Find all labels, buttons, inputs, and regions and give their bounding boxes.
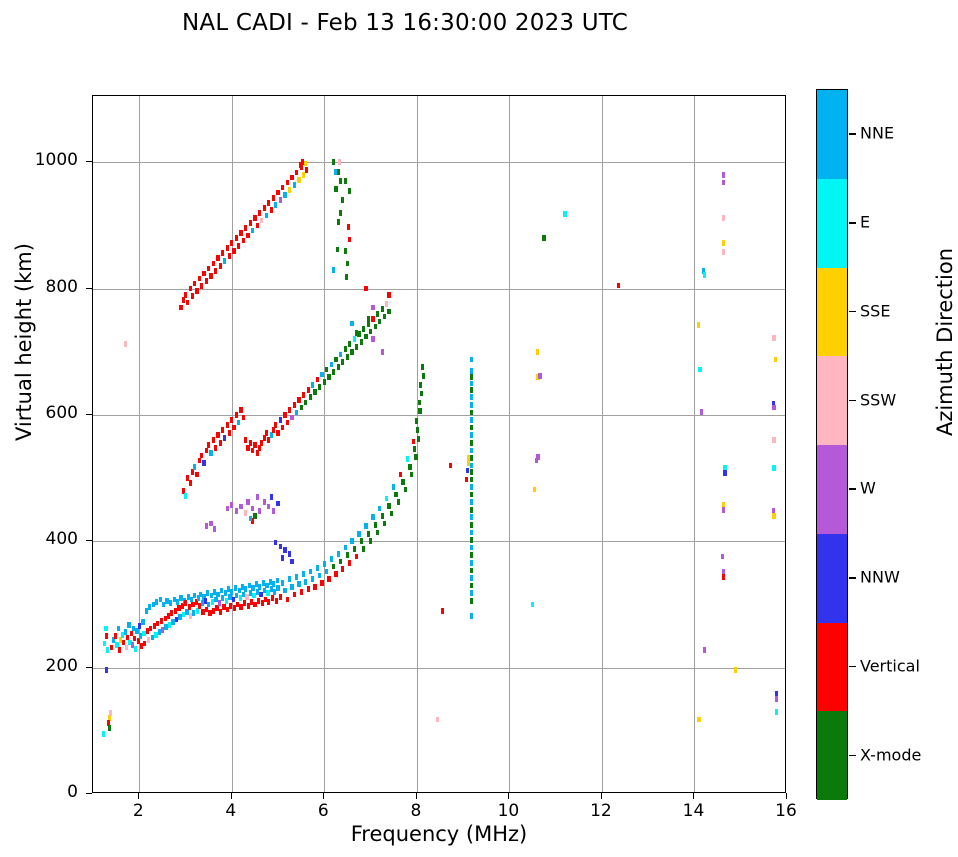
- echo-point: [263, 435, 266, 441]
- echo-point: [198, 458, 201, 464]
- echo-point: [703, 647, 706, 653]
- echo-point: [191, 293, 194, 299]
- echo-point: [381, 349, 384, 355]
- y-tick-label: 200: [18, 656, 78, 676]
- echo-point: [722, 507, 725, 513]
- echo-point: [339, 178, 342, 184]
- echo-point: [283, 588, 286, 594]
- echo-point: [102, 731, 105, 737]
- echo-point: [344, 545, 347, 551]
- echo-point: [309, 569, 312, 575]
- echo-point: [374, 324, 377, 330]
- echo-point: [318, 384, 321, 390]
- echo-point: [230, 417, 233, 423]
- echo-point: [470, 590, 473, 596]
- y-axis-label: Virtual height (km): [12, 192, 36, 492]
- echo-point: [542, 235, 545, 241]
- echo-point: [367, 316, 370, 322]
- colorbar-title: Azimuth Direction: [933, 192, 957, 492]
- echo-point: [226, 245, 229, 251]
- echo-point: [141, 619, 144, 625]
- echo-point: [722, 249, 725, 255]
- echo-point: [449, 463, 452, 469]
- echo-point: [346, 552, 349, 558]
- y-tick: [86, 667, 92, 668]
- echo-point: [127, 622, 130, 628]
- echo-point: [244, 510, 247, 516]
- echo-point: [332, 564, 335, 570]
- colorbar-tick: [849, 400, 856, 402]
- echo-point: [118, 647, 121, 653]
- echo-point: [256, 450, 259, 456]
- echo-point: [410, 472, 413, 478]
- echo-point: [327, 576, 330, 582]
- echo-point: [470, 514, 473, 520]
- echo-point: [332, 369, 335, 375]
- echo-point: [415, 418, 418, 424]
- echo-point: [219, 440, 222, 446]
- echo-point: [470, 402, 473, 408]
- echo-point: [470, 484, 473, 490]
- echo-point: [239, 230, 242, 236]
- echo-point: [267, 504, 270, 510]
- echo-point: [470, 492, 473, 498]
- echo-point: [436, 717, 439, 723]
- colorbar-segment-x-mode: [817, 711, 847, 800]
- echo-point: [124, 341, 127, 347]
- echo-point: [399, 472, 402, 478]
- echo-point: [470, 499, 473, 505]
- echo-point: [362, 326, 365, 332]
- echo-point: [355, 330, 358, 336]
- echo-point: [772, 405, 775, 411]
- echo-point: [413, 446, 416, 452]
- echo-point: [216, 255, 219, 261]
- echo-point: [290, 584, 293, 590]
- colorbar-segment-w: [817, 445, 847, 534]
- gridline-horizontal: [93, 162, 785, 163]
- echo-point: [244, 437, 247, 443]
- gridline-horizontal: [93, 415, 785, 416]
- x-tick: [693, 793, 694, 799]
- echo-point: [200, 453, 203, 459]
- echo-point: [105, 633, 108, 639]
- colorbar-segment-nnw: [817, 534, 847, 623]
- echo-point: [286, 597, 289, 603]
- echo-point: [350, 321, 353, 327]
- echo-point: [470, 522, 473, 528]
- echo-point: [103, 641, 106, 647]
- echo-point: [313, 389, 316, 395]
- echo-point: [267, 437, 270, 443]
- echo-point: [533, 487, 536, 493]
- echo-point: [367, 321, 370, 327]
- echo-point: [364, 334, 367, 340]
- echo-point: [347, 224, 350, 230]
- echo-point: [412, 439, 415, 445]
- echo-point: [249, 516, 252, 522]
- echo-point: [470, 530, 473, 536]
- echo-point: [341, 359, 344, 365]
- x-axis-label: Frequency (MHz): [92, 822, 786, 846]
- x-tick-label: 8: [386, 801, 446, 821]
- echo-point: [299, 162, 302, 168]
- echo-point: [290, 559, 293, 565]
- echo-point: [189, 286, 192, 292]
- data-canvas: [93, 96, 785, 792]
- echo-point: [302, 172, 305, 178]
- echo-point: [202, 271, 205, 277]
- echo-point: [279, 417, 282, 423]
- echo-point: [470, 357, 473, 363]
- echo-point: [344, 178, 347, 184]
- echo-point: [293, 402, 296, 408]
- echo-point: [246, 499, 249, 505]
- colorbar-tick: [849, 311, 856, 313]
- echo-point: [179, 305, 182, 311]
- echo-point: [272, 195, 275, 201]
- echo-point: [538, 373, 541, 379]
- echo-point: [200, 283, 203, 289]
- echo-point: [309, 394, 312, 400]
- echo-point: [281, 185, 284, 191]
- x-tick-label: 6: [293, 801, 353, 821]
- echo-point: [341, 197, 344, 203]
- echo-point: [293, 182, 296, 188]
- x-tick-label: 4: [201, 801, 261, 821]
- echo-point: [267, 200, 270, 206]
- echo-point: [235, 508, 238, 514]
- echo-point: [239, 504, 242, 510]
- x-tick-label: 14: [663, 801, 723, 821]
- echo-point: [383, 314, 386, 320]
- echo-point: [470, 469, 473, 475]
- echo-point: [535, 458, 538, 464]
- echo-point: [239, 407, 242, 413]
- echo-point: [307, 387, 310, 393]
- echo-point: [355, 554, 358, 560]
- echo-point: [772, 335, 775, 341]
- echo-point: [346, 354, 349, 360]
- echo-point: [117, 626, 120, 632]
- echo-point: [270, 432, 273, 438]
- echo-point: [212, 437, 215, 443]
- x-tick: [138, 793, 139, 799]
- echo-point: [251, 506, 254, 512]
- colorbar-tick: [849, 222, 856, 224]
- echo-point: [276, 585, 279, 591]
- echo-point: [258, 508, 261, 514]
- echo-point: [275, 598, 278, 604]
- echo-point: [290, 175, 293, 181]
- echo-point: [209, 273, 212, 279]
- echo-point: [364, 286, 367, 292]
- echo-point: [353, 336, 356, 342]
- colorbar-label-nne: NNE: [860, 124, 894, 143]
- echo-point: [414, 454, 417, 460]
- echo-point: [270, 494, 273, 500]
- echo-point: [350, 349, 353, 355]
- echo-point: [244, 225, 247, 231]
- echo-point: [353, 546, 356, 552]
- echo-point: [378, 319, 381, 325]
- echo-point: [339, 210, 342, 216]
- echo-point: [334, 571, 337, 577]
- echo-point: [193, 464, 196, 470]
- echo-point: [531, 602, 534, 608]
- echo-point: [276, 578, 279, 584]
- echo-point: [337, 551, 340, 557]
- echo-point: [394, 492, 397, 498]
- echo-point: [290, 415, 293, 421]
- y-tick: [86, 793, 92, 794]
- colorbar: [816, 89, 848, 799]
- echo-point: [325, 367, 328, 373]
- colorbar-segment-ssw: [817, 356, 847, 445]
- echo-point: [470, 537, 473, 543]
- echo-point: [470, 552, 473, 558]
- echo-point: [722, 240, 725, 246]
- echo-point: [419, 382, 422, 388]
- colorbar-segment-e: [817, 179, 847, 268]
- echo-point: [214, 445, 217, 451]
- echo-point: [198, 276, 201, 282]
- echo-point: [182, 297, 185, 303]
- echo-point: [184, 493, 187, 499]
- echo-point: [775, 696, 778, 702]
- echo-point: [205, 278, 208, 284]
- echo-point: [302, 571, 305, 577]
- echo-point: [408, 464, 411, 470]
- echo-point: [104, 626, 107, 632]
- echo-point: [205, 448, 208, 454]
- echo-point: [320, 580, 323, 586]
- echo-point: [256, 494, 259, 500]
- colorbar-segment-nne: [817, 90, 847, 179]
- echo-point: [196, 608, 199, 614]
- gridline-vertical: [417, 96, 418, 792]
- echo-point: [339, 559, 342, 565]
- echo-point: [470, 387, 473, 393]
- echo-point: [360, 339, 363, 345]
- colorbar-segment-sse: [817, 268, 847, 357]
- echo-point: [302, 392, 305, 398]
- echo-point: [230, 502, 233, 508]
- echo-point: [371, 514, 374, 520]
- echo-point: [276, 430, 279, 436]
- echo-point: [249, 220, 252, 226]
- echo-point: [357, 531, 360, 537]
- echo-point: [465, 477, 468, 483]
- echo-point: [221, 250, 224, 256]
- echo-point: [242, 238, 245, 244]
- colorbar-tick: [849, 666, 856, 668]
- echo-point: [105, 667, 108, 673]
- gridline-horizontal: [93, 541, 785, 542]
- x-tick: [601, 793, 602, 799]
- echo-point: [295, 170, 298, 176]
- echo-point: [734, 667, 737, 673]
- echo-point: [470, 545, 473, 551]
- echo-point: [279, 594, 282, 600]
- echo-point: [304, 400, 307, 406]
- echo-point: [223, 435, 226, 441]
- echo-point: [338, 159, 341, 165]
- echo-point: [272, 427, 275, 433]
- y-tick: [86, 414, 92, 415]
- echo-point: [279, 544, 282, 550]
- echo-point: [381, 306, 384, 312]
- echo-point: [772, 437, 775, 443]
- echo-point: [226, 506, 229, 512]
- y-tick-label: 1000: [18, 150, 78, 170]
- echo-point: [288, 407, 291, 413]
- page-title: NAL CADI - Feb 13 16:30:00 2023 UTC: [0, 10, 810, 36]
- echo-point: [369, 329, 372, 335]
- echo-point: [283, 547, 286, 553]
- echo-point: [283, 192, 286, 198]
- echo-point: [470, 368, 473, 374]
- echo-point: [283, 412, 286, 418]
- echo-point: [191, 469, 194, 475]
- colorbar-tick: [849, 755, 856, 757]
- echo-point: [397, 499, 400, 505]
- echo-point: [260, 218, 263, 224]
- echo-point: [371, 336, 374, 342]
- gridline-vertical: [232, 96, 233, 792]
- echo-point: [421, 364, 424, 370]
- echo-point: [330, 362, 333, 368]
- echo-point: [295, 410, 298, 416]
- colorbar-label-w: W: [860, 479, 876, 498]
- echo-point: [253, 442, 256, 448]
- echo-point: [304, 579, 307, 585]
- echo-point: [274, 422, 277, 428]
- echo-point: [698, 367, 701, 373]
- echo-point: [369, 538, 372, 544]
- echo-point: [307, 586, 310, 592]
- echo-point: [332, 159, 335, 165]
- echo-point: [470, 448, 473, 454]
- gridline-vertical: [602, 96, 603, 792]
- echo-point: [470, 613, 473, 619]
- echo-point: [193, 281, 196, 287]
- x-tick: [231, 793, 232, 799]
- echo-point: [401, 479, 404, 485]
- echo-point: [420, 391, 423, 397]
- echo-point: [348, 560, 351, 566]
- echo-point: [246, 445, 249, 451]
- echo-point: [265, 213, 268, 219]
- colorbar-tick: [849, 488, 856, 490]
- echo-point: [406, 456, 409, 462]
- echo-point: [242, 415, 245, 421]
- y-tick: [86, 540, 92, 541]
- echo-point: [722, 180, 725, 186]
- echo-point: [297, 177, 300, 183]
- echo-point: [205, 523, 208, 529]
- echo-point: [774, 357, 777, 363]
- x-tick-label: 16: [756, 801, 816, 821]
- echo-point: [362, 546, 365, 552]
- colorbar-label-vertical: Vertical: [860, 656, 920, 675]
- echo-point: [385, 496, 388, 502]
- echo-point: [311, 382, 314, 388]
- echo-point: [263, 205, 266, 211]
- colorbar-label-ssw: SSW: [860, 390, 896, 409]
- echo-point: [274, 540, 277, 546]
- echo-point: [772, 465, 775, 471]
- colorbar-segment-vertical: [817, 623, 847, 712]
- echo-point: [332, 267, 335, 273]
- echo-point: [297, 397, 300, 403]
- echo-point: [293, 592, 296, 598]
- echo-point: [344, 248, 347, 254]
- x-tick: [786, 793, 787, 799]
- echo-point: [323, 561, 326, 567]
- echo-point: [276, 501, 279, 507]
- echo-point: [416, 427, 419, 433]
- colorbar-label-x-mode: X-mode: [860, 745, 921, 764]
- echo-point: [235, 412, 238, 418]
- echo-point: [722, 574, 725, 580]
- echo-point: [345, 274, 348, 280]
- echo-point: [300, 589, 303, 595]
- x-tick-label: 12: [571, 801, 631, 821]
- echo-point: [418, 400, 421, 406]
- echo-point: [313, 584, 316, 590]
- echo-point: [221, 427, 224, 433]
- x-tick-label: 2: [108, 801, 168, 821]
- echo-point: [316, 565, 319, 571]
- echo-point: [371, 316, 374, 322]
- echo-point: [339, 352, 342, 358]
- y-tick-label: 400: [18, 529, 78, 549]
- colorbar-label-e: E: [860, 213, 870, 232]
- echo-point: [219, 263, 222, 269]
- x-tick-label: 10: [478, 801, 538, 821]
- echo-point: [297, 581, 300, 587]
- echo-point: [563, 211, 566, 217]
- echo-point: [288, 551, 291, 557]
- echo-point: [325, 569, 328, 575]
- echo-point: [703, 272, 706, 278]
- echo-point: [195, 472, 198, 478]
- echo-point: [207, 442, 210, 448]
- echo-point: [470, 507, 473, 513]
- echo-point: [360, 538, 363, 544]
- echo-point: [470, 477, 473, 483]
- echo-point: [251, 228, 254, 234]
- echo-point: [470, 598, 473, 604]
- echo-point: [237, 420, 240, 426]
- y-tick: [86, 288, 92, 289]
- echo-point: [249, 440, 252, 446]
- echo-point: [470, 410, 473, 416]
- x-tick: [508, 793, 509, 799]
- echo-point: [470, 583, 473, 589]
- echo-point: [470, 568, 473, 574]
- echo-point: [237, 243, 240, 249]
- echo-point: [258, 210, 261, 216]
- echo-point: [700, 409, 703, 415]
- echo-point: [387, 503, 390, 509]
- echo-point: [371, 305, 374, 311]
- echo-point: [226, 422, 229, 428]
- echo-point: [311, 576, 314, 582]
- echo-point: [232, 425, 235, 431]
- echo-point: [223, 258, 226, 264]
